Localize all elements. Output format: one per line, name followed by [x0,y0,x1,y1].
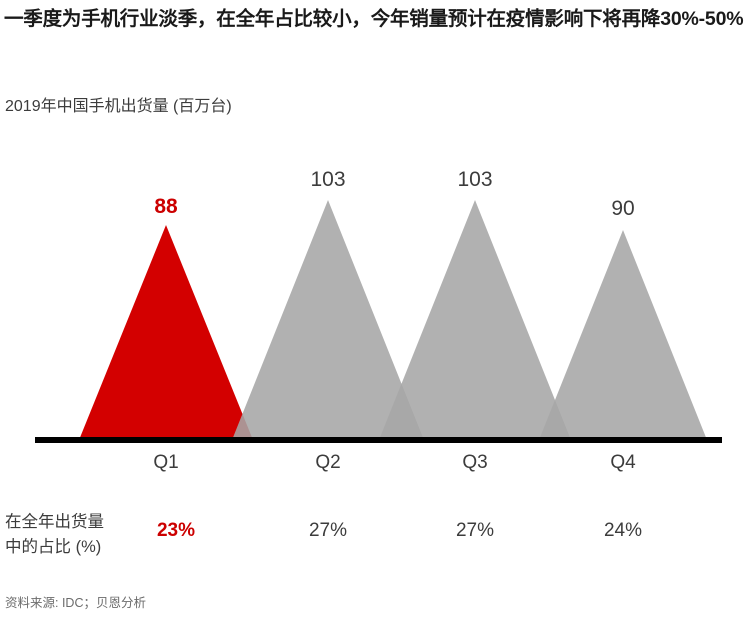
category-axis: Q1 Q2 Q3 Q4 [0,452,750,482]
triangle-q3 [379,200,571,440]
category-label-q2: Q2 [268,452,388,474]
triangle-q1 [79,225,253,440]
value-label-q1: 88 [106,195,226,219]
share-value-q2: 27% [268,520,388,542]
share-value-q1: 23% [116,520,236,542]
share-value-q4: 24% [563,520,683,542]
axis-baseline [35,437,722,443]
category-label-q4: Q4 [563,452,683,474]
value-label-q2: 103 [268,168,388,192]
triangle-q4 [539,230,707,440]
share-value-q3: 27% [415,520,535,542]
source-footnote: 资料来源: IDC；贝恩分析 [5,592,146,611]
chart-page: 一季度为手机行业淡季，在全年占比较小，今年销量预计在疫情影响下将再降30%-50… [0,0,750,617]
value-label-q4: 90 [563,197,683,221]
page-title: 一季度为手机行业淡季，在全年占比较小，今年销量预计在疫情影响下将再降30%-50… [4,4,746,34]
value-label-q3: 103 [415,168,535,192]
category-label-q3: Q3 [415,452,535,474]
share-values-row: 23% 27% 27% 24% [0,520,750,554]
chart-subtitle: 2019年中国手机出货量 (百万台) [5,92,232,116]
category-label-q1: Q1 [106,452,226,474]
